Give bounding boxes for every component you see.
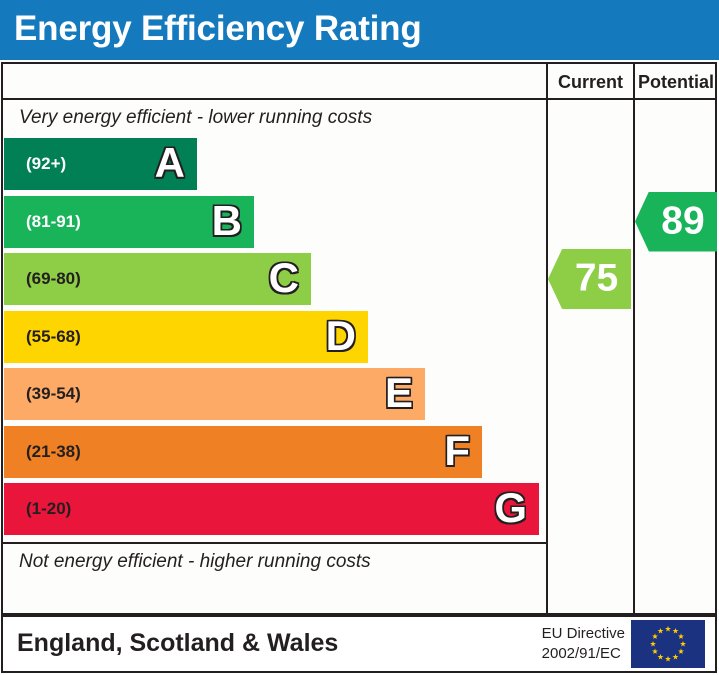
footer-region-label: England, Scotland & Wales bbox=[17, 629, 338, 658]
rating-marker-current: 75 bbox=[548, 249, 631, 309]
band-range-e: (39-54) bbox=[26, 384, 81, 404]
band-bar-d: (55-68)D bbox=[4, 311, 368, 363]
band-range-c: (69-80) bbox=[26, 269, 81, 289]
directive-line-1: EU Directive bbox=[542, 624, 625, 644]
eu-flag-icon bbox=[631, 620, 705, 668]
energy-efficiency-certificate: Energy Efficiency Rating Current Potenti… bbox=[0, 0, 719, 675]
band-bar-f: (21-38)F bbox=[4, 426, 482, 478]
band-bar-a: (92+)A bbox=[4, 138, 197, 190]
band-bars: (92+)A(81-91)B(69-80)C(55-68)D(39-54)E(2… bbox=[3, 138, 546, 542]
band-letter-f: F bbox=[444, 430, 470, 472]
column-header-potential: Potential bbox=[635, 64, 717, 100]
column-divider-potential bbox=[633, 64, 635, 613]
band-bar-e: (39-54)E bbox=[4, 368, 425, 420]
caption-not-efficient: Not energy efficient - higher running co… bbox=[3, 544, 546, 579]
rating-value-current: 75 bbox=[562, 259, 631, 298]
band-range-a: (92+) bbox=[26, 154, 66, 174]
column-header-current: Current bbox=[548, 64, 633, 100]
footer-directive: EU Directive 2002/91/EC bbox=[542, 624, 625, 665]
directive-line-2: 2002/91/EC bbox=[542, 644, 625, 664]
band-bar-c: (69-80)C bbox=[4, 253, 311, 305]
band-bar-g: (1-20)G bbox=[4, 483, 539, 535]
rating-table: Current Potential Very energy efficient … bbox=[1, 62, 717, 615]
footer-bar: England, Scotland & Wales EU Directive 2… bbox=[1, 615, 717, 673]
column-divider-current bbox=[546, 64, 548, 613]
band-range-d: (55-68) bbox=[26, 327, 81, 347]
rating-value-potential: 89 bbox=[649, 201, 717, 240]
band-letter-g: G bbox=[494, 487, 527, 529]
page-title: Energy Efficiency Rating bbox=[14, 9, 422, 49]
band-bar-b: (81-91)B bbox=[4, 196, 254, 248]
band-letter-e: E bbox=[385, 372, 413, 414]
band-range-g: (1-20) bbox=[26, 499, 71, 519]
band-letter-b: B bbox=[212, 200, 242, 242]
band-range-b: (81-91) bbox=[26, 212, 81, 232]
band-letter-d: D bbox=[326, 315, 356, 357]
band-letter-c: C bbox=[269, 257, 299, 299]
rating-marker-potential: 89 bbox=[635, 192, 717, 252]
band-letter-a: A bbox=[155, 142, 185, 184]
band-range-f: (21-38) bbox=[26, 442, 81, 462]
header-banner: Energy Efficiency Rating bbox=[0, 0, 719, 60]
caption-very-efficient: Very energy efficient - lower running co… bbox=[3, 100, 546, 136]
